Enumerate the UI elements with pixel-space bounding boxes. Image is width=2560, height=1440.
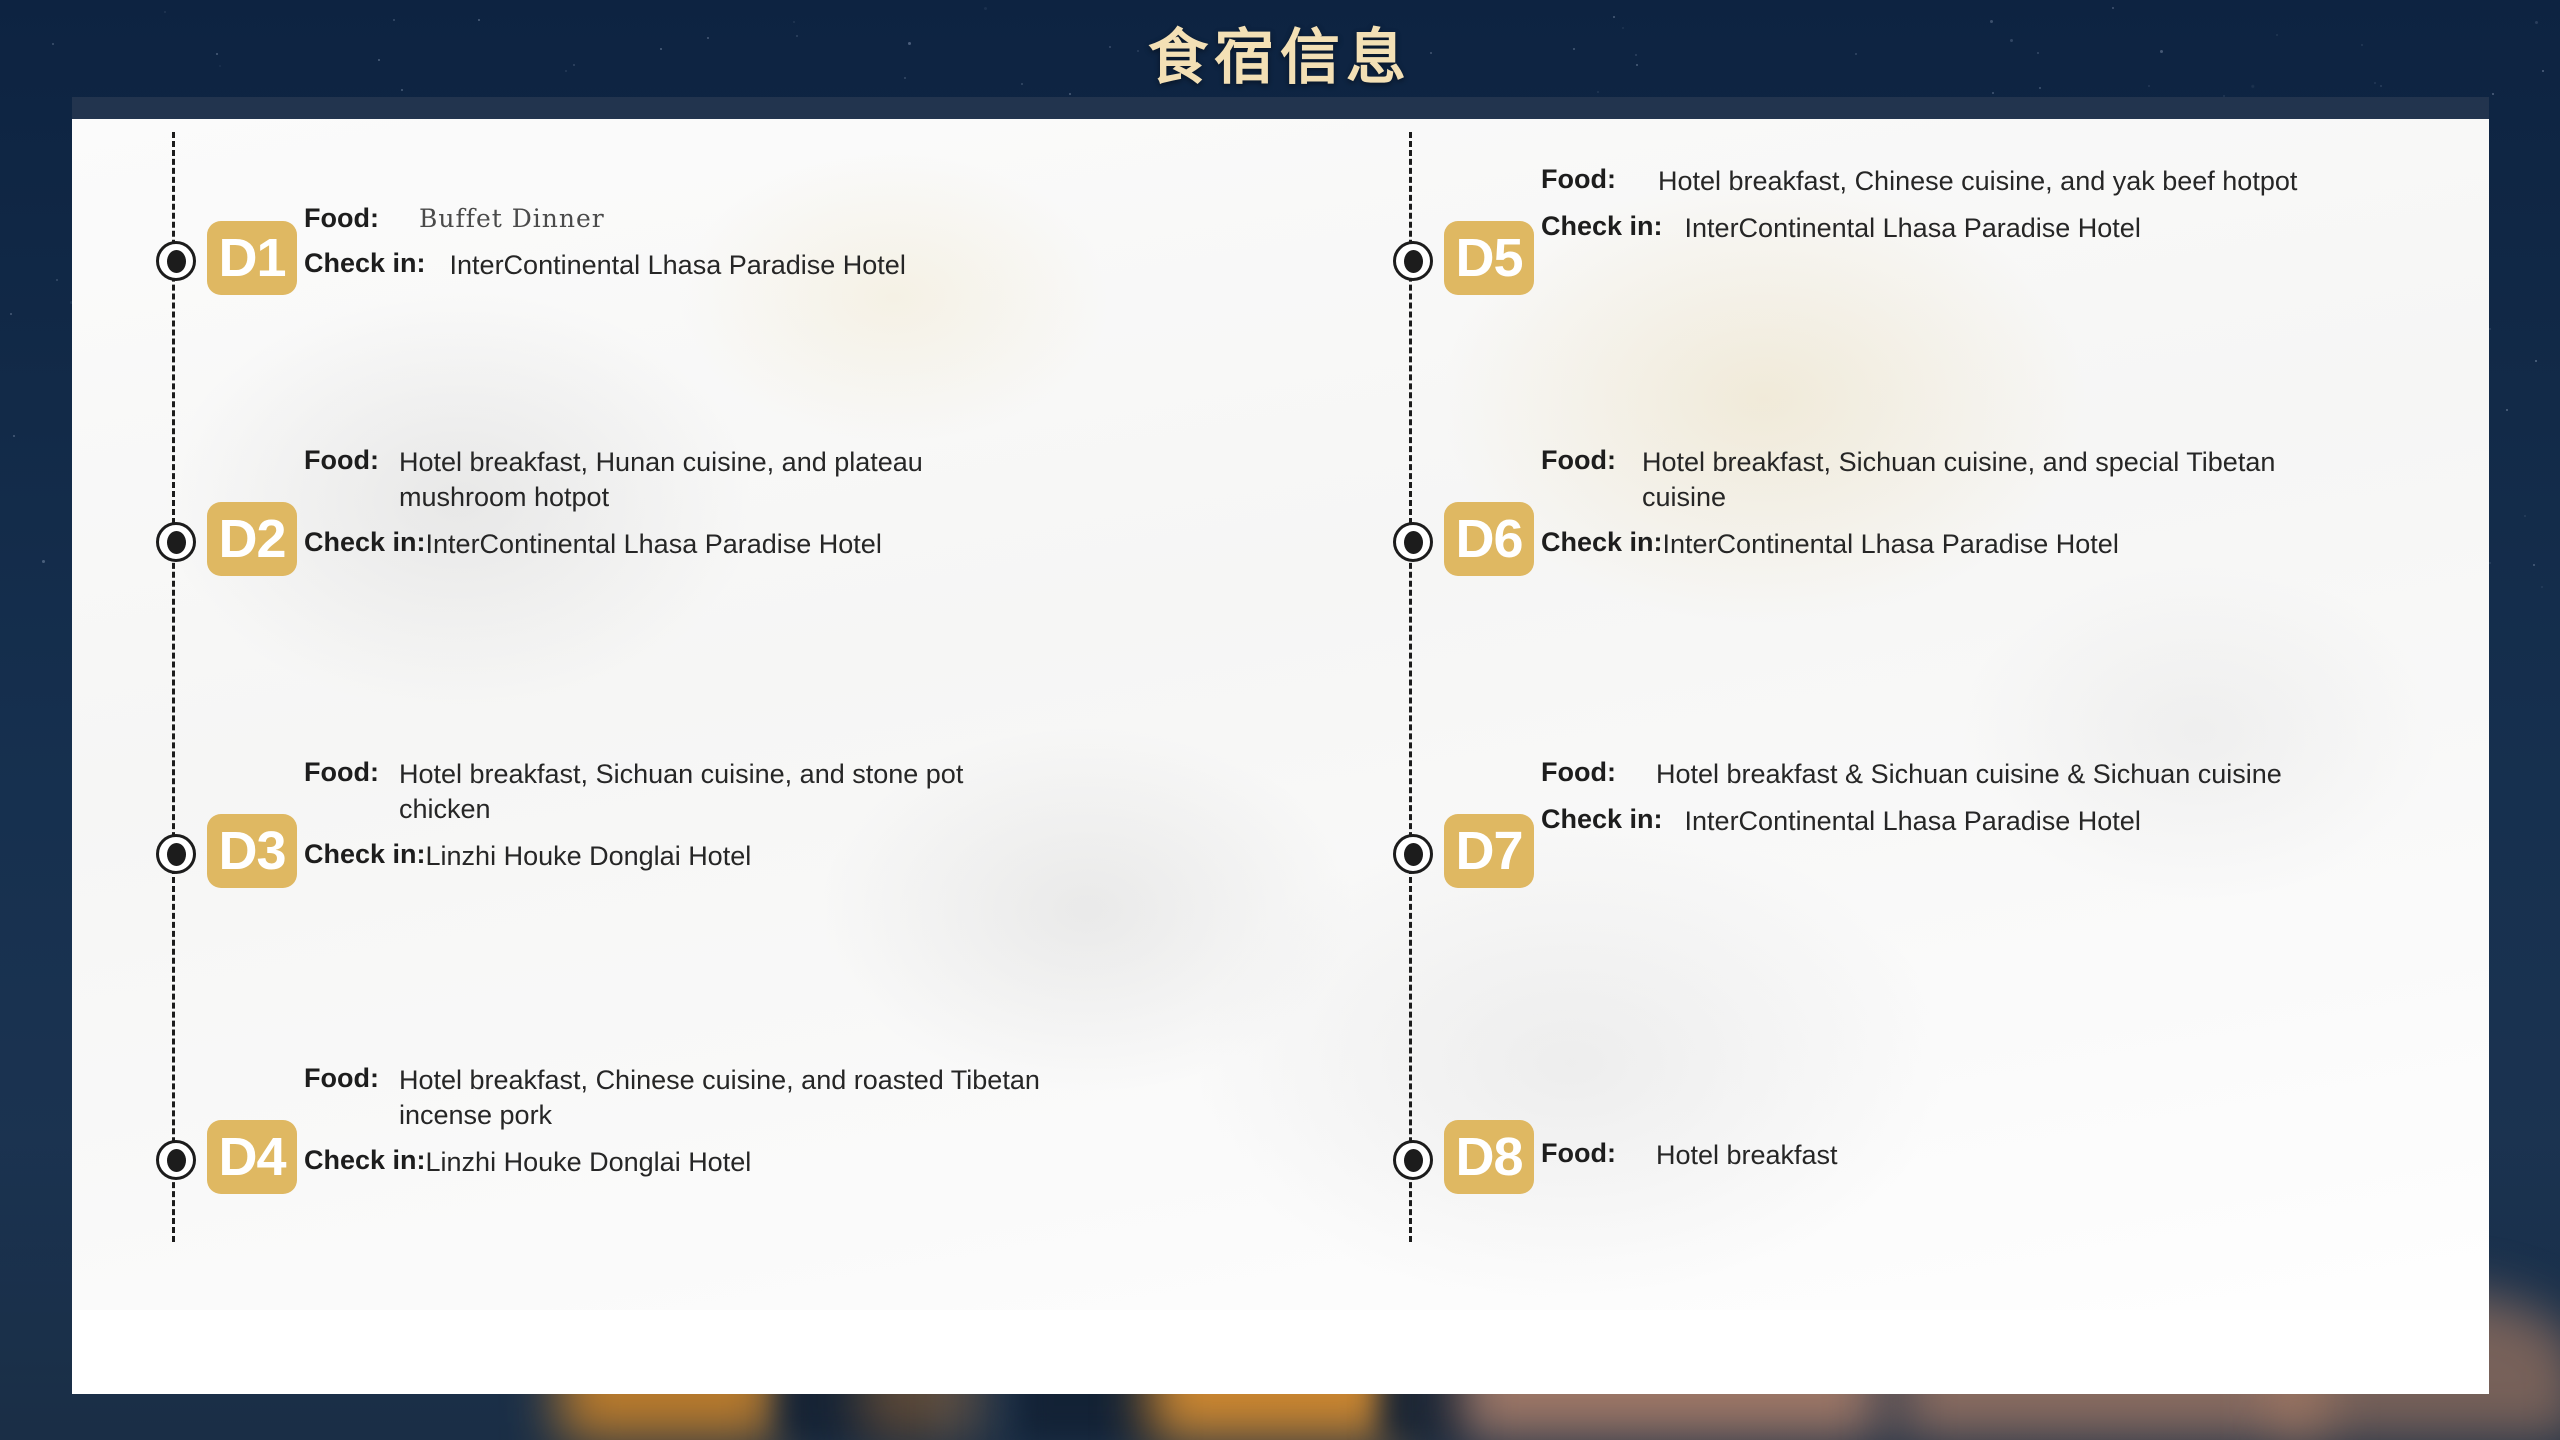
check-in-label: Check in:: [1541, 527, 1663, 558]
food-label: Food:: [304, 1063, 379, 1094]
food-value: Hotel breakfast, Chinese cuisine, and ya…: [1658, 164, 2338, 199]
food-value: Hotel breakfast & Sichuan cuisine & Sich…: [1656, 757, 2336, 792]
timeline-node: [156, 522, 196, 562]
slide: 食宿信息 D1 Food: Buffet Dinner: [0, 0, 2560, 1440]
timeline-node: [156, 241, 196, 281]
timeline-columns: D1 Food: Buffet Dinner Check in: InterCo…: [72, 97, 2489, 1394]
day-badge: D4: [207, 1120, 297, 1194]
day-details: Food: Hotel breakfast, Chinese cuisine, …: [1541, 164, 2461, 246]
food-row: Food: Hotel breakfast, Chinese cuisine, …: [304, 1063, 1184, 1133]
timeline-node: [156, 834, 196, 874]
timeline-node: [1393, 1140, 1433, 1180]
page-title: 食宿信息: [1148, 28, 1412, 88]
food-value: Hotel breakfast: [1656, 1138, 2336, 1173]
food-label: Food:: [1541, 164, 1616, 195]
check-in-label: Check in:: [1541, 804, 1663, 835]
day-details: Food: Hotel breakfast, Hunan cuisine, an…: [304, 445, 1184, 562]
check-in-row: Check in: InterContinental Lhasa Paradis…: [1541, 211, 2461, 246]
day-details: Food: Buffet Dinner Check in: InterConti…: [304, 203, 1184, 283]
check-in-value: InterContinental Lhasa Paradise Hotel: [1685, 804, 2385, 839]
food-row: Food: Hotel breakfast, Hunan cuisine, an…: [304, 445, 1184, 515]
day-badge: D8: [1444, 1120, 1534, 1194]
food-row: Food: Hotel breakfast & Sichuan cuisine …: [1541, 757, 2461, 792]
food-value: Buffet Dinner: [419, 203, 1119, 236]
food-row: Food: Hotel breakfast, Sichuan cuisine, …: [1541, 445, 2461, 515]
check-in-label: Check in:: [1541, 211, 1663, 242]
dashed-timeline-line: [1409, 132, 1412, 1242]
check-in-row: Check in: Linzhi Houke Donglai Hotel: [304, 1145, 1184, 1180]
check-in-value: InterContinental Lhasa Paradise Hotel: [426, 527, 1106, 562]
food-value: Hotel breakfast, Sichuan cuisine, and st…: [399, 757, 1019, 827]
food-label: Food:: [1541, 1138, 1616, 1169]
day-badge: D5: [1444, 221, 1534, 295]
food-row: Food: Hotel breakfast: [1541, 1138, 2461, 1173]
food-value: Hotel breakfast, Hunan cuisine, and plat…: [399, 445, 1039, 515]
day-details: Food: Hotel breakfast, Chinese cuisine, …: [304, 1063, 1184, 1180]
food-value: Hotel breakfast, Chinese cuisine, and ro…: [399, 1063, 1059, 1133]
day-details: Food: Hotel breakfast: [1541, 1138, 2461, 1173]
food-row: Food: Hotel breakfast, Chinese cuisine, …: [1541, 164, 2461, 199]
check-in-row: Check in: InterContinental Lhasa Paradis…: [1541, 804, 2461, 839]
check-in-row: Check in: InterContinental Lhasa Paradis…: [304, 527, 1184, 562]
day-details: Food: Hotel breakfast, Sichuan cuisine, …: [304, 757, 1184, 874]
day-details: Food: Hotel breakfast, Sichuan cuisine, …: [1541, 445, 2461, 562]
food-label: Food:: [304, 757, 379, 788]
check-in-label: Check in:: [304, 839, 426, 870]
check-in-row: Check in: InterContinental Lhasa Paradis…: [1541, 527, 2461, 562]
timeline-node: [1393, 241, 1433, 281]
right-column: D5 Food: Hotel breakfast, Chinese cuisin…: [1282, 97, 2489, 1394]
day-badge: D1: [207, 221, 297, 295]
food-label: Food:: [304, 445, 379, 476]
check-in-row: Check in: Linzhi Houke Donglai Hotel: [304, 839, 1184, 874]
check-in-label: Check in:: [304, 527, 426, 558]
slide-title-area: 食宿信息: [0, 0, 2560, 104]
food-label: Food:: [1541, 445, 1616, 476]
check-in-value: InterContinental Lhasa Paradise Hotel: [450, 248, 1150, 283]
check-in-label: Check in:: [304, 1145, 426, 1176]
food-label: Food:: [1541, 757, 1616, 788]
content-card: D1 Food: Buffet Dinner Check in: InterCo…: [72, 97, 2489, 1394]
check-in-value: Linzhi Houke Donglai Hotel: [426, 1145, 1106, 1180]
timeline-node: [1393, 834, 1433, 874]
food-value: Hotel breakfast, Sichuan cuisine, and sp…: [1642, 445, 2322, 515]
check-in-value: Linzhi Houke Donglai Hotel: [426, 839, 1106, 874]
food-row: Food: Buffet Dinner: [304, 203, 1184, 236]
check-in-row: Check in: InterContinental Lhasa Paradis…: [304, 248, 1184, 283]
timeline-node: [1393, 522, 1433, 562]
dashed-timeline-line: [172, 132, 175, 1242]
day-badge: D6: [1444, 502, 1534, 576]
check-in-value: InterContinental Lhasa Paradise Hotel: [1663, 527, 2363, 562]
timeline-node: [156, 1140, 196, 1180]
left-column: D1 Food: Buffet Dinner Check in: InterCo…: [72, 97, 1282, 1394]
day-badge: D2: [207, 502, 297, 576]
day-details: Food: Hotel breakfast & Sichuan cuisine …: [1541, 757, 2461, 839]
day-badge: D3: [207, 814, 297, 888]
check-in-value: InterContinental Lhasa Paradise Hotel: [1685, 211, 2385, 246]
food-row: Food: Hotel breakfast, Sichuan cuisine, …: [304, 757, 1184, 827]
food-label: Food:: [304, 203, 379, 234]
check-in-label: Check in:: [304, 248, 426, 279]
day-badge: D7: [1444, 814, 1534, 888]
